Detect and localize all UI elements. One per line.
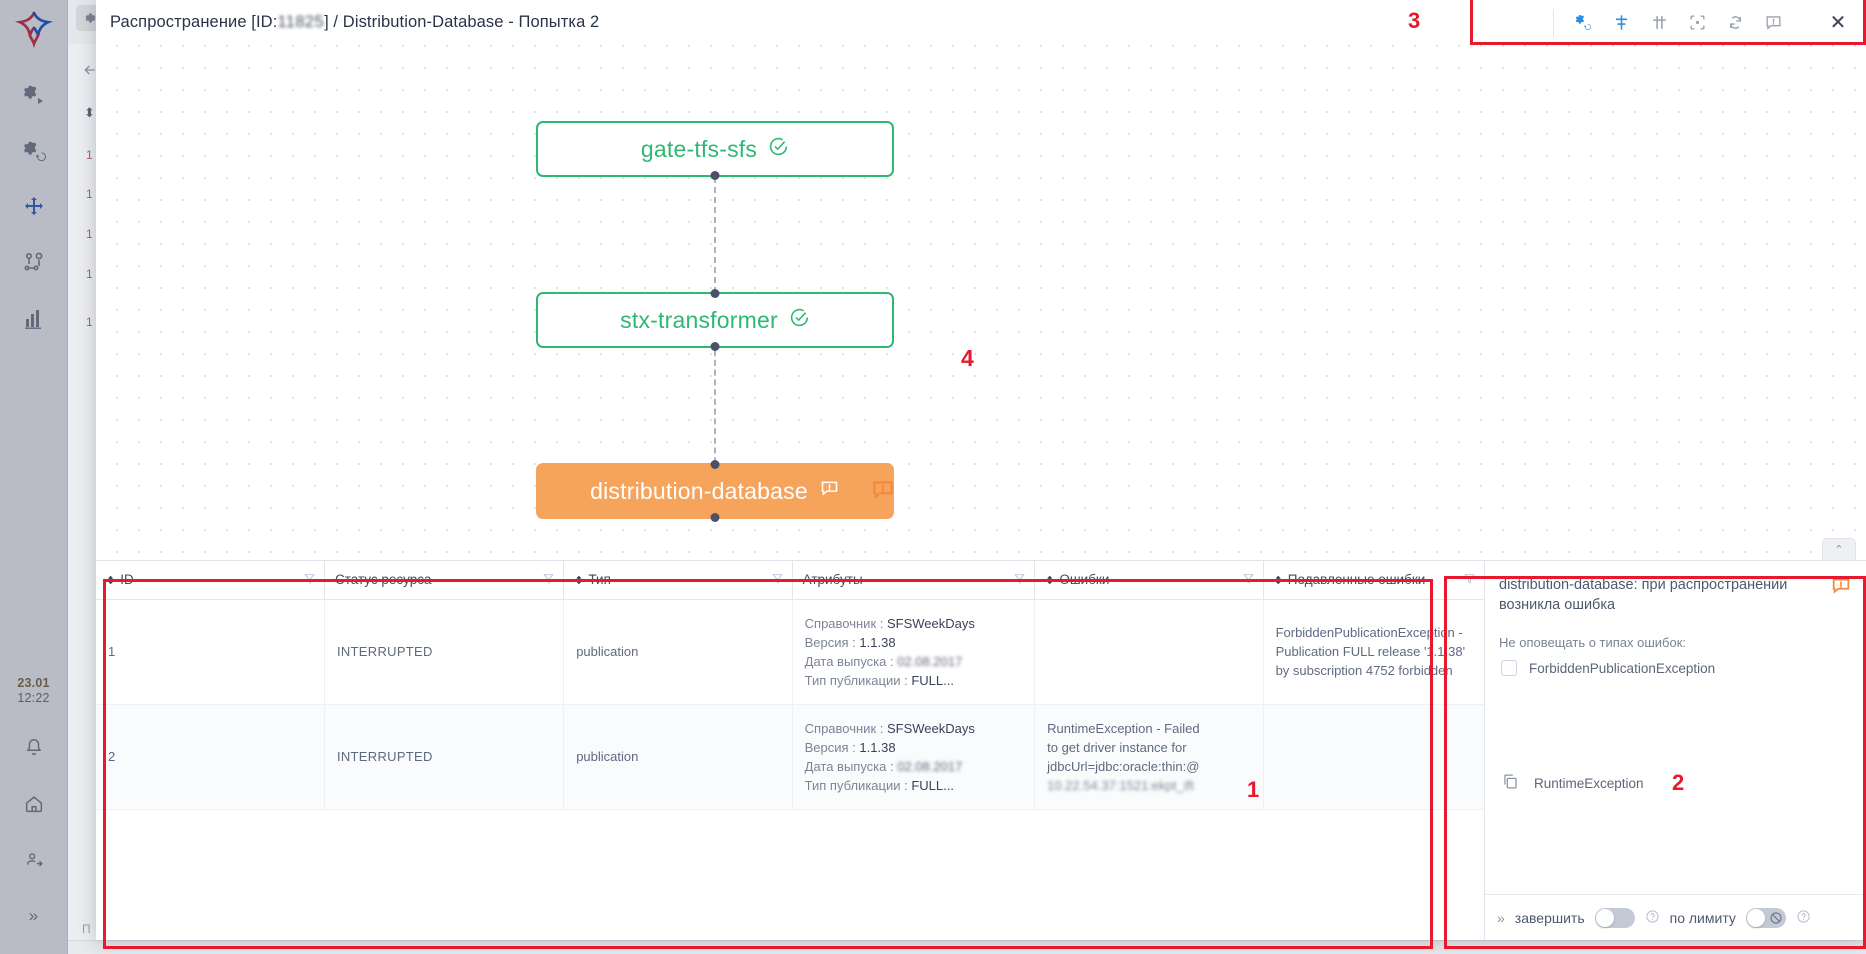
refresh-icon[interactable] bbox=[1718, 8, 1752, 38]
sort-icon[interactable]: ⬍ bbox=[574, 575, 583, 587]
annotation-1-label: 1 bbox=[1247, 777, 1259, 803]
cell-id: 2 bbox=[96, 704, 324, 809]
node-distribution-database[interactable]: distribution-database bbox=[536, 463, 894, 519]
left-sidebar: 23.01 12:22 » bbox=[0, 0, 68, 954]
resources-grid: ⬍ID Статус ресурса bbox=[96, 561, 1484, 810]
attr-key: Справочник : bbox=[805, 616, 884, 631]
annotation-4-label: 4 bbox=[961, 345, 974, 372]
collapse-canvas-button[interactable]: ⌃ bbox=[1822, 538, 1856, 560]
annotation-2-label: 2 bbox=[1672, 770, 1684, 796]
copy-icon[interactable] bbox=[1501, 772, 1520, 794]
col-suppressed-errors[interactable]: ⬍Подавленные ошибки bbox=[1263, 561, 1484, 599]
cell-errors: RuntimeException - Failed to get driver … bbox=[1035, 704, 1263, 809]
col-attributes[interactable]: Атрибуты bbox=[792, 561, 1034, 599]
sort-icon[interactable]: ⬍ bbox=[1045, 575, 1054, 587]
cell-attributes: Справочник : SFSWeekDays Версия : 1.1.38… bbox=[792, 599, 1034, 704]
finish-toggle-label: завершить bbox=[1515, 910, 1585, 926]
page-title: Распространение [ID:11825] / Distributio… bbox=[110, 13, 599, 32]
header-tool-group bbox=[1553, 9, 1802, 37]
filter-icon[interactable] bbox=[1463, 572, 1476, 588]
attr-key: Тип публикации : bbox=[805, 673, 908, 688]
node-gate-tfs-sfs-label: gate-tfs-sfs bbox=[641, 136, 757, 163]
expand-footer-button[interactable]: » bbox=[1497, 910, 1505, 926]
attr-key: Дата выпуска : bbox=[805, 654, 894, 669]
blocked-icon bbox=[1769, 911, 1783, 925]
cell-suppressed-errors: ForbiddenPublicationException - Publicat… bbox=[1263, 599, 1484, 704]
filter-icon[interactable] bbox=[542, 572, 555, 588]
col-errors[interactable]: ⬍Ошибки bbox=[1035, 561, 1263, 599]
table-row[interactable]: 1 INTERRUPTED publication Справочник : S… bbox=[96, 599, 1484, 704]
topology-canvas[interactable]: gate-tfs-sfs stx-transformer bbox=[96, 45, 1866, 560]
error-detail-panel: distribution-database: при распространен… bbox=[1484, 561, 1866, 940]
col-attributes-label: Атрибуты bbox=[803, 572, 863, 587]
split-view-icon[interactable] bbox=[1642, 8, 1676, 38]
page-title-id: 11825 bbox=[277, 13, 324, 31]
attr-value: SFSWeekDays bbox=[887, 721, 975, 736]
sort-icon[interactable]: ⬍ bbox=[106, 575, 115, 587]
suppress-error-checkbox[interactable] bbox=[1501, 660, 1517, 676]
exception-label: RuntimeException bbox=[1534, 776, 1644, 791]
attr-value: FULL... bbox=[911, 778, 954, 793]
col-suppressed-errors-label: Подавленные ошибки bbox=[1288, 572, 1425, 587]
sidebar-item-notifications[interactable] bbox=[14, 728, 54, 768]
cell-type: publication bbox=[564, 704, 792, 809]
attr-value: 02.08.2017 bbox=[897, 759, 962, 774]
error-line: 10.22.54.37:1521:ekpt_ift bbox=[1047, 776, 1250, 795]
sidebar-item-distribution[interactable] bbox=[14, 187, 54, 227]
attr-value: FULL... bbox=[911, 673, 954, 688]
clock-date: 23.01 bbox=[17, 676, 49, 691]
header-toolbar: ✕ bbox=[1553, 0, 1856, 45]
table-header-row: ⬍ID Статус ресурса bbox=[96, 561, 1484, 599]
page-title-suffix: ] / Distribution-Database - Попытка 2 bbox=[324, 13, 599, 31]
detail-subtitle: Не оповещать о типах ошибок: bbox=[1485, 619, 1866, 656]
limit-toggle-label: по лимиту bbox=[1670, 910, 1736, 926]
detail-header: distribution-database: при распространен… bbox=[1485, 561, 1866, 619]
alert-comment-icon[interactable] bbox=[1830, 575, 1852, 602]
cell-status: INTERRUPTED bbox=[324, 704, 563, 809]
background-sort-icon[interactable]: ⬍ bbox=[84, 105, 95, 121]
alert-comment-icon[interactable] bbox=[870, 477, 896, 503]
attr-key: Тип публикации : bbox=[805, 778, 908, 793]
check-circle-icon bbox=[768, 136, 789, 163]
col-type-label: Тип bbox=[588, 572, 611, 587]
attr-key: Дата выпуска : bbox=[805, 759, 894, 774]
attr-key: Версия : bbox=[805, 740, 856, 755]
cell-errors bbox=[1035, 599, 1263, 704]
attr-key: Справочник : bbox=[805, 721, 884, 736]
service-config-icon[interactable] bbox=[1566, 8, 1600, 38]
sidebar-clock: 23.01 12:22 bbox=[17, 676, 49, 706]
node-distribution-database-label: distribution-database bbox=[590, 478, 808, 505]
attr-value: 02.08.2017 bbox=[897, 654, 962, 669]
finish-toggle[interactable] bbox=[1595, 908, 1635, 928]
table-row[interactable]: 2 INTERRUPTED publication Справочник : S… bbox=[96, 704, 1484, 809]
sidebar-item-home[interactable] bbox=[14, 784, 54, 824]
col-type[interactable]: ⬍Тип bbox=[564, 561, 792, 599]
cell-id: 1 bbox=[96, 599, 324, 704]
close-icon[interactable]: ✕ bbox=[1820, 5, 1856, 41]
error-line: RuntimeException - Failed bbox=[1047, 719, 1250, 738]
filter-icon[interactable] bbox=[771, 572, 784, 588]
col-id[interactable]: ⬍ID bbox=[96, 561, 324, 599]
node-stx-transformer-label: stx-transformer bbox=[620, 307, 778, 334]
bottom-split: ⬍ID Статус ресурса bbox=[96, 560, 1866, 940]
node-stx-transformer[interactable]: stx-transformer bbox=[536, 292, 894, 348]
node-gate-tfs-sfs[interactable]: gate-tfs-sfs bbox=[536, 121, 894, 177]
sort-icon[interactable]: ⬍ bbox=[1274, 575, 1283, 587]
background-row-id: 1 bbox=[86, 227, 93, 241]
col-resource-status[interactable]: Статус ресурса bbox=[324, 561, 563, 599]
help-icon[interactable] bbox=[1796, 909, 1811, 927]
error-line: to get driver instance for bbox=[1047, 738, 1250, 757]
clock-time: 12:22 bbox=[17, 691, 49, 706]
sidebar-item-processes[interactable] bbox=[14, 75, 54, 115]
cell-type: publication bbox=[564, 599, 792, 704]
attr-key: Версия : bbox=[805, 635, 856, 650]
cell-attributes: Справочник : SFSWeekDays Версия : 1.1.38… bbox=[792, 704, 1034, 809]
detail-footer: » завершить по лимиту bbox=[1485, 894, 1866, 940]
sidebar-item-settings[interactable] bbox=[14, 131, 54, 171]
annotation-3-label: 3 bbox=[1408, 8, 1420, 34]
attr-value: SFSWeekDays bbox=[887, 616, 975, 631]
col-id-label: ID bbox=[120, 572, 134, 587]
filter-icon[interactable] bbox=[303, 572, 316, 588]
cell-suppressed-errors bbox=[1263, 704, 1484, 809]
sidebar-expand-glyph: » bbox=[29, 906, 38, 926]
background-row-id: 1 bbox=[86, 187, 93, 201]
background-row-id: 1 bbox=[86, 267, 93, 281]
fit-to-screen-icon[interactable] bbox=[1680, 8, 1714, 38]
distribution-modal: Распространение [ID:11825] / Distributio… bbox=[96, 0, 1866, 940]
error-line: jdbcUrl=jdbc:oracle:thin:@ bbox=[1047, 757, 1250, 776]
sidebar-item-reports[interactable] bbox=[14, 299, 54, 339]
help-icon[interactable] bbox=[1645, 909, 1660, 927]
detail-title: distribution-database: при распространен… bbox=[1499, 575, 1820, 615]
suppress-error-label: ForbiddenPublicationException bbox=[1529, 661, 1715, 676]
col-errors-label: Ошибки bbox=[1059, 572, 1109, 587]
sidebar-item-topology[interactable] bbox=[14, 243, 54, 283]
resources-table: ⬍ID Статус ресурса bbox=[96, 561, 1484, 940]
limit-toggle[interactable] bbox=[1746, 908, 1786, 928]
check-circle-icon bbox=[789, 307, 810, 334]
background-row-id: 1 bbox=[86, 315, 93, 329]
comment-icon[interactable] bbox=[1756, 8, 1790, 38]
background-row-id: 1 bbox=[86, 148, 93, 162]
filter-icon[interactable] bbox=[1242, 572, 1255, 588]
cell-status: INTERRUPTED bbox=[324, 599, 563, 704]
sidebar-expand-button[interactable]: » bbox=[14, 896, 54, 936]
suppress-error-option[interactable]: ForbiddenPublicationException bbox=[1485, 656, 1866, 676]
edge-gate-to-transformer bbox=[714, 177, 716, 303]
background-status-bar bbox=[68, 940, 1866, 954]
modal-header: Распространение [ID:11825] / Distributio… bbox=[96, 0, 1866, 45]
col-resource-status-label: Статус ресурса bbox=[335, 572, 432, 587]
background-bottom-label: П bbox=[82, 922, 91, 936]
alert-comment-icon bbox=[819, 478, 840, 505]
page-title-prefix: Распространение [ID: bbox=[110, 13, 277, 31]
align-distribute-icon[interactable] bbox=[1604, 8, 1638, 38]
app-logo[interactable] bbox=[14, 8, 54, 53]
sidebar-item-logout[interactable] bbox=[14, 840, 54, 880]
attr-value: 1.1.38 bbox=[859, 740, 895, 755]
attr-value: 1.1.38 bbox=[859, 635, 895, 650]
filter-icon[interactable] bbox=[1013, 572, 1026, 588]
